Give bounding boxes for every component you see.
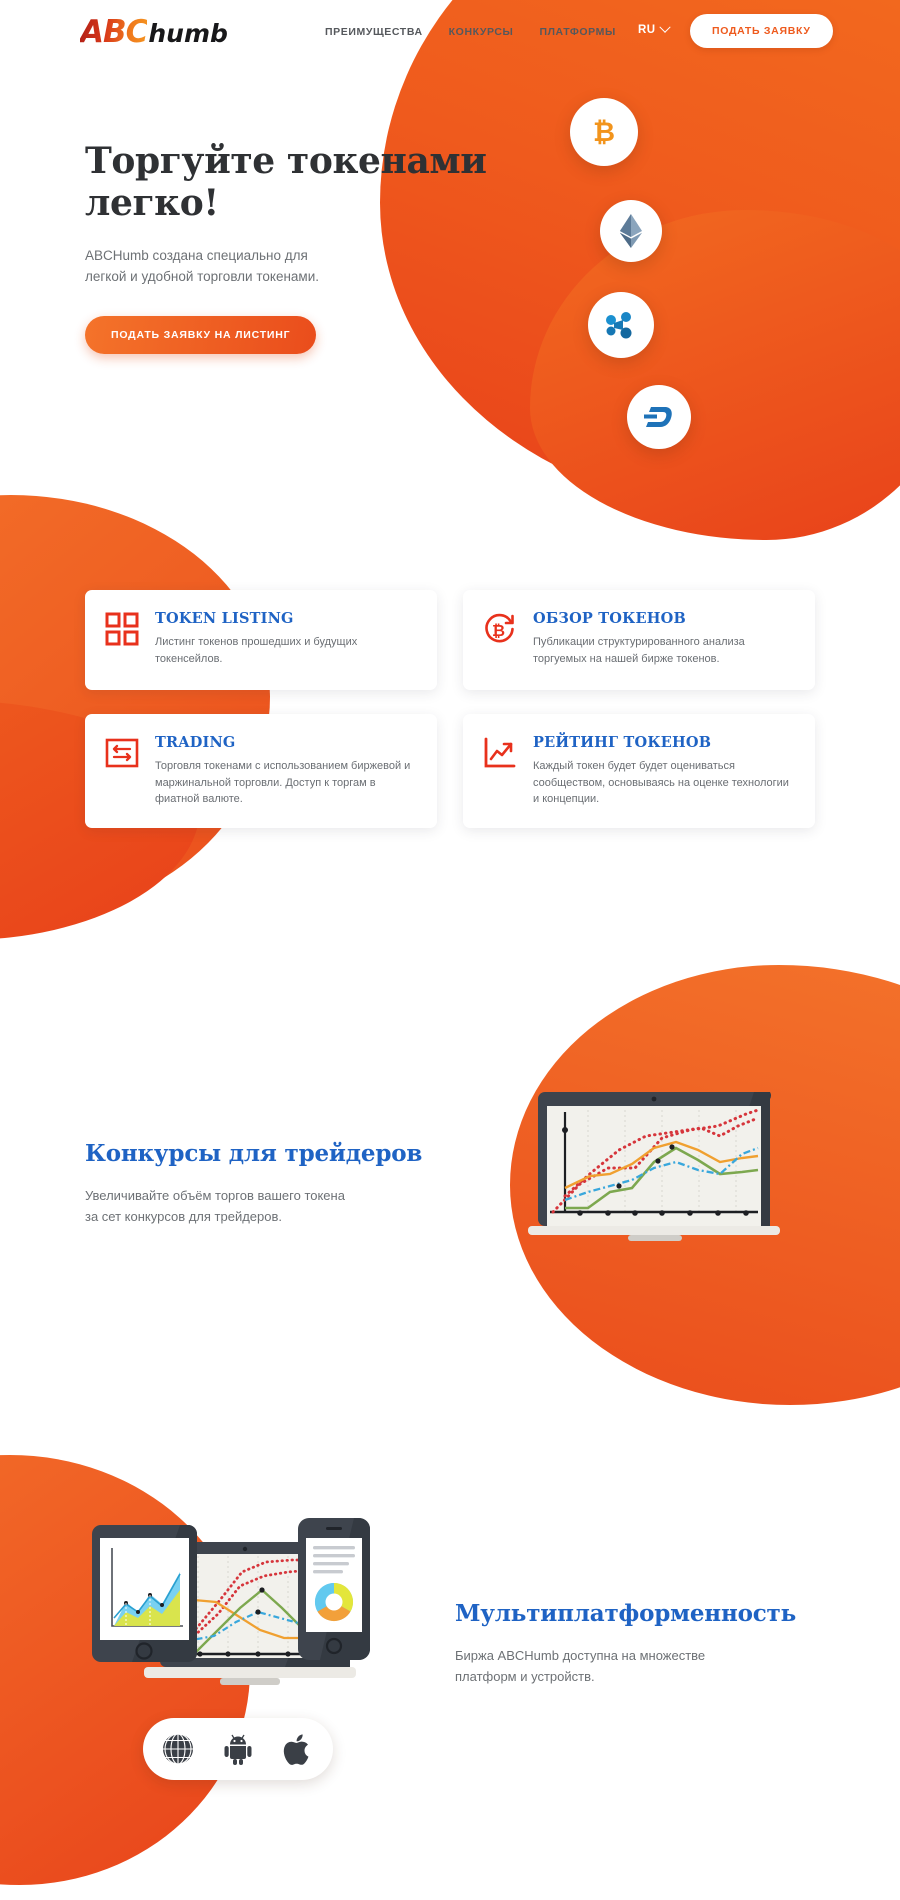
laptop-chart-illustration [520, 1088, 790, 1253]
apple-icon[interactable] [281, 1732, 315, 1766]
ethereum-icon [618, 214, 644, 248]
hero-section: Торгуйте токенами легко! ABCHumb создана… [85, 140, 515, 354]
hero-apply-listing-button[interactable]: ПОДАТЬ ЗАЯВКУ НА ЛИСТИНГ [85, 316, 316, 354]
feature-cards: TOKEN LISTING Листинг токенов прошедших … [85, 590, 815, 828]
language-selector[interactable]: RU [638, 24, 669, 36]
feature-card[interactable]: TRADING Торговля токенами с использовани… [85, 714, 437, 828]
exchange-arrows-icon [105, 736, 139, 770]
svg-text:₿: ₿ [492, 621, 505, 640]
ripple-coin [588, 292, 654, 358]
landing-page: ABChumb ПРЕИМУЩЕСТВА КОНКУРСЫ ПЛАТФОРМЫ … [0, 0, 900, 1900]
contests-title: Конкурсы для трейдеров [85, 1140, 445, 1169]
site-logo[interactable]: ABChumb [80, 14, 228, 50]
bitcoin-refresh-icon: ₿ [483, 612, 517, 646]
feature-card-text: Торговля токенами с использованием бирже… [155, 758, 415, 808]
contests-text: Увеличивайте объём торгов вашего токена … [85, 1186, 445, 1228]
multiplatform-text: Биржа ABCHumb доступна на множестве плат… [455, 1646, 835, 1688]
svg-text:₿: ₿ [593, 117, 615, 148]
feature-card-title: TOKEN LISTING [155, 610, 415, 627]
feature-card[interactable]: РЕЙТИНГ ТОКЕНОВ Каждый токен будет будет… [463, 714, 815, 828]
contests-text-line1: Увеличивайте объём торгов вашего токена [85, 1188, 345, 1203]
feature-card[interactable]: TOKEN LISTING Листинг токенов прошедших … [85, 590, 437, 690]
header-apply-button[interactable]: ПОДАТЬ ЗАЯВКУ [690, 14, 833, 48]
nav-platforms[interactable]: ПЛАТФОРМЫ [539, 26, 615, 38]
feature-card-title: РЕЙТИНГ ТОКЕНОВ [533, 734, 793, 751]
rating-chart-icon [483, 736, 517, 770]
chevron-down-icon [659, 22, 670, 33]
hero-title-line2: легко! [85, 182, 219, 224]
site-header: ABChumb ПРЕИМУЩЕСТВА КОНКУРСЫ ПЛАТФОРМЫ … [0, 0, 900, 68]
multiplatform-title: Мультиплатформенность [455, 1600, 835, 1629]
ripple-icon [604, 308, 638, 342]
language-label: RU [638, 24, 656, 36]
logo-primary-text: ABC [80, 14, 147, 50]
multiplatform-section: Мультиплатформенность Биржа ABCHumb дост… [455, 1600, 835, 1687]
feature-card[interactable]: ₿ ОБЗОР ТОКЕНОВ Публикации структурирова… [463, 590, 815, 690]
web-globe-icon[interactable] [161, 1732, 195, 1766]
multiplatform-text-line1: Биржа ABCHumb доступна на множестве [455, 1648, 705, 1663]
android-icon[interactable] [221, 1732, 255, 1766]
hero-title-line1: Торгуйте токенами [85, 140, 487, 182]
multiplatform-text-line2: платформ и устройств. [455, 1669, 595, 1684]
bitcoin-icon: ₿ [587, 115, 621, 149]
hero-title: Торгуйте токенами легко! [85, 140, 515, 225]
hero-subtitle-line2: легкой и удобной торговли токенами. [85, 269, 319, 284]
hero-subtitle: ABCHumb создана специально для легкой и … [85, 246, 515, 288]
feature-card-text: Каждый токен будет будет оцениваться соо… [533, 758, 793, 808]
dash-icon [643, 404, 675, 430]
feature-card-text: Листинг токенов прошедших и будущих токе… [155, 634, 415, 667]
contests-section: Конкурсы для трейдеров Увеличивайте объё… [85, 1140, 445, 1227]
logo-secondary-text: humb [148, 19, 228, 48]
multidevice-illustration [70, 1490, 400, 1715]
ethereum-coin [600, 200, 662, 262]
feature-card-text: Публикации структурированного анализа то… [533, 634, 793, 667]
main-navigation: ПРЕИМУЩЕСТВА КОНКУРСЫ ПЛАТФОРМЫ [325, 26, 616, 38]
grid-squares-icon [105, 612, 139, 646]
bitcoin-coin: ₿ [570, 98, 638, 166]
dash-coin [627, 385, 691, 449]
feature-card-title: ОБЗОР ТОКЕНОВ [533, 610, 793, 627]
contests-text-line2: за сет конкурсов для трейдеров. [85, 1209, 282, 1224]
feature-card-title: TRADING [155, 734, 415, 751]
hero-subtitle-line1: ABCHumb создана специально для [85, 248, 308, 263]
nav-advantages[interactable]: ПРЕИМУЩЕСТВА [325, 26, 423, 38]
nav-contests[interactable]: КОНКУРСЫ [449, 26, 514, 38]
platform-badges [143, 1718, 333, 1780]
